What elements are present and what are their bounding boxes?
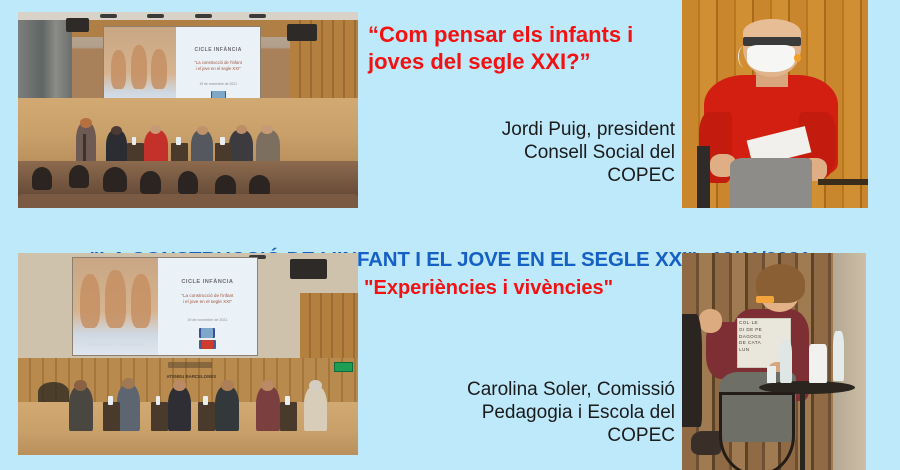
ceiling-light-b — [147, 14, 164, 18]
silhouette-5 — [105, 270, 125, 328]
slide-welcome-text-2: Benvingudes i benvinguts — [73, 342, 157, 348]
silhouette-4 — [80, 274, 100, 328]
ceiling-light-d — [249, 14, 266, 18]
panelist-5-head — [236, 125, 247, 134]
exit-sign-icon-2 — [334, 362, 353, 372]
top-speaker-credit: Jordi Puig, president Consell Social del… — [400, 118, 675, 188]
wall-ledge — [818, 179, 868, 185]
water-bottle-1 — [132, 137, 136, 145]
slide-subtitle-2: "La construcció de l'infant i el jove en… — [158, 293, 257, 304]
ceiling-light-c — [195, 14, 212, 18]
projection-screen-2: Benvingudes i benvinguts CICLE INFÀNCIA … — [72, 257, 258, 356]
audience-head-5 — [178, 171, 198, 195]
table-leg — [800, 390, 806, 470]
speaker2-hand-raised — [699, 309, 723, 333]
ceiling-speaker-right-2 — [290, 259, 327, 279]
water-bottle-b4 — [285, 396, 290, 405]
bottom-quote: "Experiències i vivències" — [364, 276, 684, 300]
water-bottle-front — [780, 340, 793, 383]
slide-logos-row2-2 — [158, 340, 257, 349]
ceiling-light-a — [100, 14, 117, 18]
ceiling-speaker-right — [287, 24, 318, 42]
water-bottle-b3 — [203, 396, 208, 405]
photo-top-right-speaker — [682, 0, 868, 208]
top-quote: “Com pensar els infants i joves del segl… — [368, 22, 668, 76]
venue-sign-text-2: ATENEU BARCELONÈS — [144, 374, 239, 379]
slide-title-2: CICLE INFÀNCIA — [158, 279, 257, 285]
panelist-2-head — [111, 126, 122, 135]
slide-photo-half-2: Benvingudes i benvinguts — [73, 258, 157, 355]
panelist-b2 — [117, 384, 141, 430]
sanitizer-bottle — [809, 344, 827, 383]
panelist-b4-head — [221, 380, 234, 391]
chair-back — [697, 146, 710, 208]
water-bottle-b1 — [108, 396, 113, 405]
slide-date-2: 19 de novembre de 2021 — [158, 318, 257, 322]
speaker-face-mask — [747, 45, 795, 72]
panelist-b4 — [215, 386, 239, 430]
chair-back-bottom — [719, 392, 795, 470]
panelist-1 — [76, 122, 96, 165]
panelist-b5 — [256, 386, 280, 430]
stage-floor — [18, 98, 358, 165]
photo-bottom-left-auditorium: Benvingudes i benvinguts CICLE INFÀNCIA … — [18, 253, 358, 455]
slide-title: CICLE INFÀNCIA — [176, 47, 260, 53]
slide-logos-2 — [158, 328, 257, 338]
ceiling-speaker-left — [66, 18, 90, 32]
water-bottle-3 — [220, 137, 224, 145]
slide-date: 19 de novembre de 2021 — [176, 82, 260, 86]
speaker-trousers — [730, 158, 812, 208]
panelist-b1 — [69, 386, 93, 430]
slide-subtitle: "La construcció de l'infant i el jove en… — [176, 60, 260, 71]
plant-decor — [38, 382, 69, 402]
silhouette-3 — [151, 49, 167, 89]
audience-head-1 — [32, 167, 52, 191]
photo-bottom-right-speaker: COL·LE GI DE PE DAGOGS DE CATA LUN — [682, 253, 866, 470]
photo-top-left-auditorium: Benvinguda i benvinguts CICLE INFÀNCIA "… — [18, 12, 358, 208]
audience-head-3 — [103, 167, 127, 192]
side-table-b4 — [280, 402, 297, 430]
panelist-b3 — [168, 386, 192, 430]
audience-head-4 — [140, 171, 160, 195]
speaker2-mic-headset — [756, 296, 774, 303]
silhouette-2 — [131, 45, 147, 89]
seat-row-front — [18, 194, 358, 208]
bottom-speaker-credit: Carolina Soler, Comissió Pedagogia i Esc… — [398, 378, 675, 448]
panelist-b6 — [304, 386, 328, 430]
logo-10 — [202, 340, 213, 349]
mask-ear-strap — [738, 46, 750, 67]
audience-head-7 — [249, 175, 269, 197]
side-table-b3 — [198, 402, 215, 430]
panelist-1-head — [80, 118, 92, 128]
silhouette-1 — [111, 50, 125, 89]
venue-logo-mark-2 — [168, 362, 212, 368]
glass-on-table — [767, 366, 776, 383]
water-bottle-back — [833, 331, 844, 381]
speaker2-boot — [691, 431, 720, 455]
side-table-b1 — [103, 402, 120, 430]
water-bottle-b2 — [156, 396, 161, 405]
slide-text-half-2: CICLE INFÀNCIA "La construcció de l'infa… — [158, 258, 257, 355]
poster-canvas: Benvinguda i benvinguts CICLE INFÀNCIA "… — [0, 0, 900, 470]
side-table-b2 — [151, 402, 168, 430]
panelist-4-head — [197, 126, 208, 135]
panelist-6-head — [261, 125, 272, 134]
dark-figure-left-edge — [682, 314, 702, 427]
audience-head-2 — [69, 165, 89, 189]
audience-head-6 — [215, 175, 235, 197]
silhouette-6 — [131, 274, 151, 328]
logo-8 — [201, 328, 213, 338]
water-bottle-2 — [176, 137, 180, 145]
